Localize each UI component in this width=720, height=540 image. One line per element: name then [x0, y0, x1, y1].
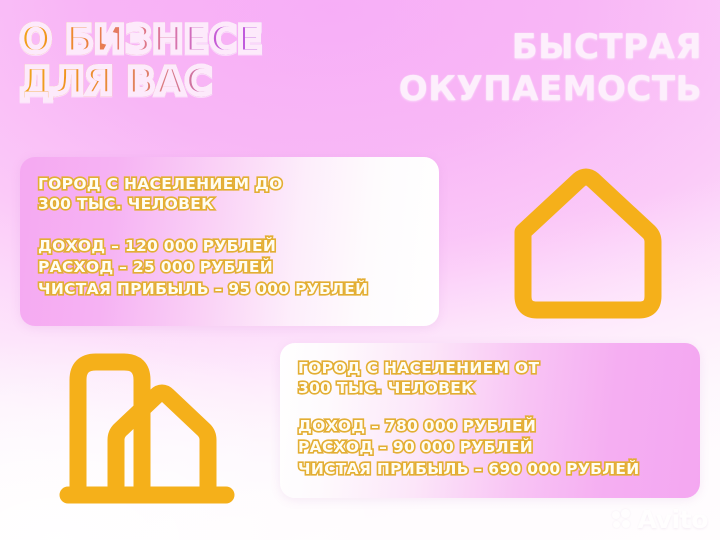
headline-left-line-1: О БИЗНЕСЕ — [20, 22, 263, 58]
card-stat-income: ДОХОД – 120 000 РУБЛЕЙ — [38, 236, 421, 257]
card-stats-list: ДОХОД – 780 000 РУБЛЕЙ РАСХОД – 90 000 Р… — [298, 416, 682, 480]
card-stats-list: ДОХОД – 120 000 РУБЛЕЙ РАСХОД – 25 000 Р… — [38, 236, 421, 300]
slide-canvas: О БИЗНЕСЕ ДЛЯ ВАС БЫСТРАЯ ОКУПАЕМОСТЬ ГО… — [0, 0, 720, 540]
info-card-large-city: ГОРОД С НАСЕЛЕНИЕМ ОТ 300 ТЫС. ЧЕЛОВЕК Д… — [280, 343, 700, 498]
avito-watermark: Avito — [612, 507, 708, 532]
headline-left: О БИЗНЕСЕ ДЛЯ ВАС — [20, 22, 263, 100]
card-content: ГОРОД С НАСЕЛЕНИЕМ ДО 300 ТЫС. ЧЕЛОВЕК Д… — [20, 157, 439, 300]
headline-left-line-2: ДЛЯ ВАС — [20, 64, 263, 100]
card-title-line-2: 300 ТЫС. ЧЕЛОВЕК — [298, 378, 682, 398]
avito-watermark-label: Avito — [638, 507, 708, 532]
card-title-line-2: 300 ТЫС. ЧЕЛОВЕК — [38, 194, 421, 214]
card-title-line-1: ГОРОД С НАСЕЛЕНИЕМ ДО — [38, 174, 421, 194]
card-stat-net-profit: ЧИСТАЯ ПРИБЫЛЬ – 690 000 РУБЛЕЙ — [298, 459, 682, 480]
headline-right: БЫСТРАЯ ОКУПАЕМОСТЬ — [399, 30, 702, 106]
card-content: ГОРОД С НАСЕЛЕНИЕМ ОТ 300 ТЫС. ЧЕЛОВЕК Д… — [280, 343, 700, 480]
headline-right-line-1: БЫСТРАЯ — [399, 30, 702, 64]
card-stat-expense: РАСХОД – 25 000 РУБЛЕЙ — [38, 257, 421, 278]
info-card-small-city: ГОРОД С НАСЕЛЕНИЕМ ДО 300 ТЫС. ЧЕЛОВЕК Д… — [20, 157, 439, 326]
card-stat-expense: РАСХОД – 90 000 РУБЛЕЙ — [298, 437, 682, 458]
headline-right-line-2: ОКУПАЕМОСТЬ — [399, 72, 702, 106]
avito-dots-logo-icon — [612, 509, 633, 530]
two-buildings-outline-icon — [58, 344, 244, 508]
card-title-line-1: ГОРОД С НАСЕЛЕНИЕМ ОТ — [298, 358, 682, 378]
card-stat-income: ДОХОД – 780 000 РУБЛЕЙ — [298, 416, 682, 437]
card-stat-net-profit: ЧИСТАЯ ПРИБЫЛЬ – 95 000 РУБЛЕЙ — [38, 279, 421, 300]
house-outline-icon — [501, 160, 671, 330]
